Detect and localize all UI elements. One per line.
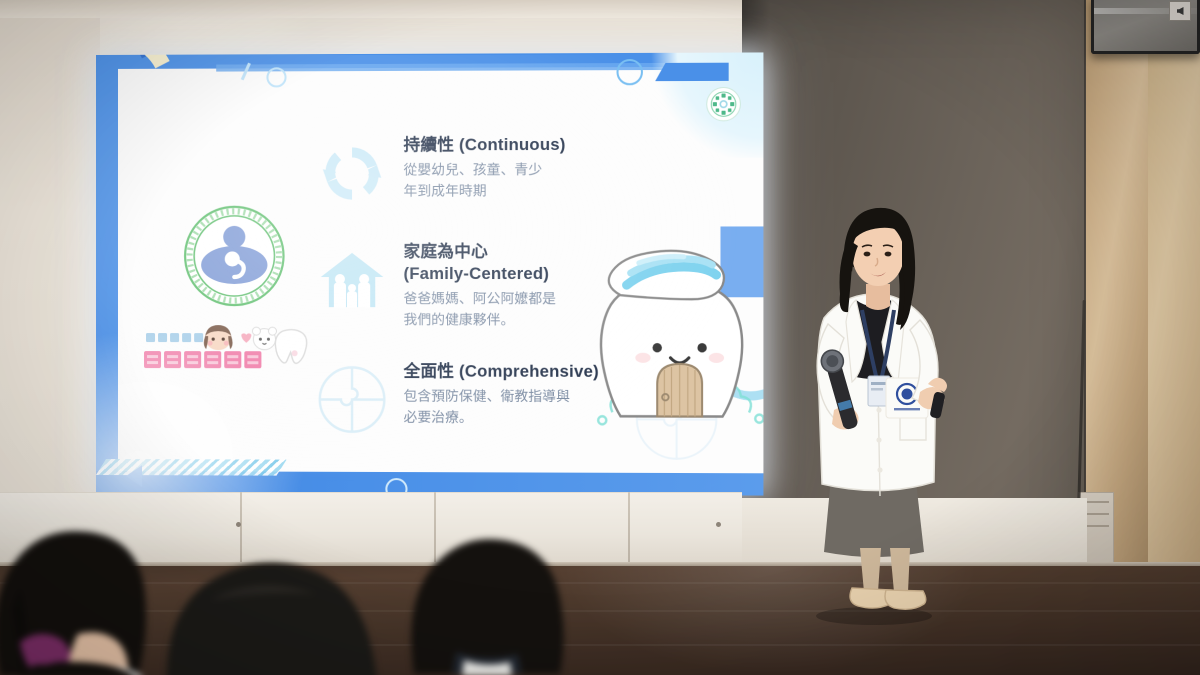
family-house-icon — [315, 243, 390, 317]
slide-logo-group — [142, 203, 327, 372]
audience-member-center — [150, 480, 430, 675]
speaker — [782, 196, 972, 626]
wood-door-panel — [1148, 0, 1200, 596]
cabinet-knob[interactable] — [716, 522, 721, 527]
pediatric-dentistry-logo-icon — [181, 203, 287, 309]
slide-top-bar-accent — [216, 63, 763, 72]
arc-blue-deco — [96, 52, 184, 158]
slide-item-text: 家庭為中心 (Family-Centered) 爸爸媽媽、阿公阿嬤都是 我們的健… — [404, 239, 557, 331]
wedge-deco-top — [655, 63, 728, 81]
audience-foreground — [0, 420, 640, 675]
ring-deco-1 — [266, 67, 286, 87]
slide-item-heading: 全面性 (Comprehensive) — [404, 360, 599, 383]
slide-item: 持續性 (Continuous) 從嬰幼兒、孩童、青少 年到成年時期 — [315, 131, 741, 210]
arc-cream-deco — [96, 52, 191, 162]
medical-cross-badge-icon — [706, 87, 741, 121]
oral-friendly-home-logo-icon — [142, 323, 315, 371]
slide-item-body: 從嬰幼兒、孩童、青少 年到成年時期 — [404, 160, 566, 201]
slide-item-heading: 持續性 (Continuous) — [404, 134, 566, 157]
slide-item-body: 爸爸媽媽、阿公阿嬤都是 我們的健康夥伴。 — [404, 289, 557, 330]
presentation-photo-scene: 持續性 (Continuous) 從嬰幼兒、孩童、青少 年到成年時期 — [0, 0, 1200, 675]
tick-deco — [241, 63, 251, 81]
speaker-icon — [1169, 1, 1191, 21]
slide-item-heading: 家庭為中心 (Family-Centered) — [404, 241, 557, 286]
wall-monitor — [1091, 0, 1200, 54]
slide-top-bar — [96, 52, 763, 69]
slide-item-text: 全面性 (Comprehensive) 包含預防保健、衛教指導與 必要治療。 — [404, 358, 599, 428]
ring-deco-2 — [616, 59, 642, 85]
refresh-cycle-icon — [315, 136, 390, 210]
slide-item-text: 持續性 (Continuous) 從嬰幼兒、孩童、青少 年到成年時期 — [404, 132, 566, 202]
